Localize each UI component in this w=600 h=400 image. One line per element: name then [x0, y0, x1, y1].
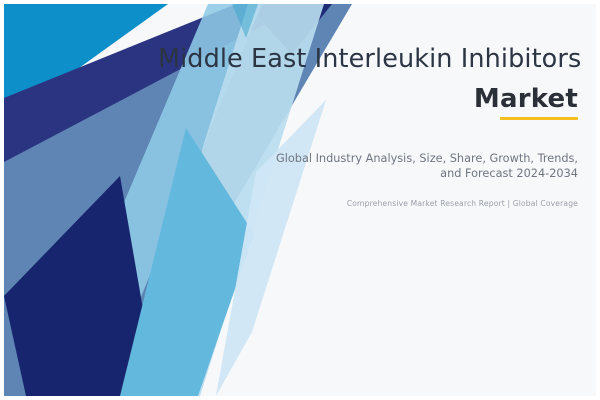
page-title: Middle East Interleukin Inhibitors: [158, 44, 578, 74]
cover-byline: Comprehensive Market Research Report | G…: [258, 198, 578, 209]
market-emphasis-block: Market: [474, 84, 578, 120]
report-cover: Middle East Interleukin Inhibitors Marke…: [0, 0, 600, 400]
cover-text-layer: Middle East Interleukin Inhibitors Marke…: [0, 0, 600, 400]
market-underline-rule: [500, 117, 578, 120]
market-emphasis-word: Market: [474, 84, 578, 114]
cover-subtitle: Global Industry Analysis, Size, Share, G…: [258, 152, 578, 181]
